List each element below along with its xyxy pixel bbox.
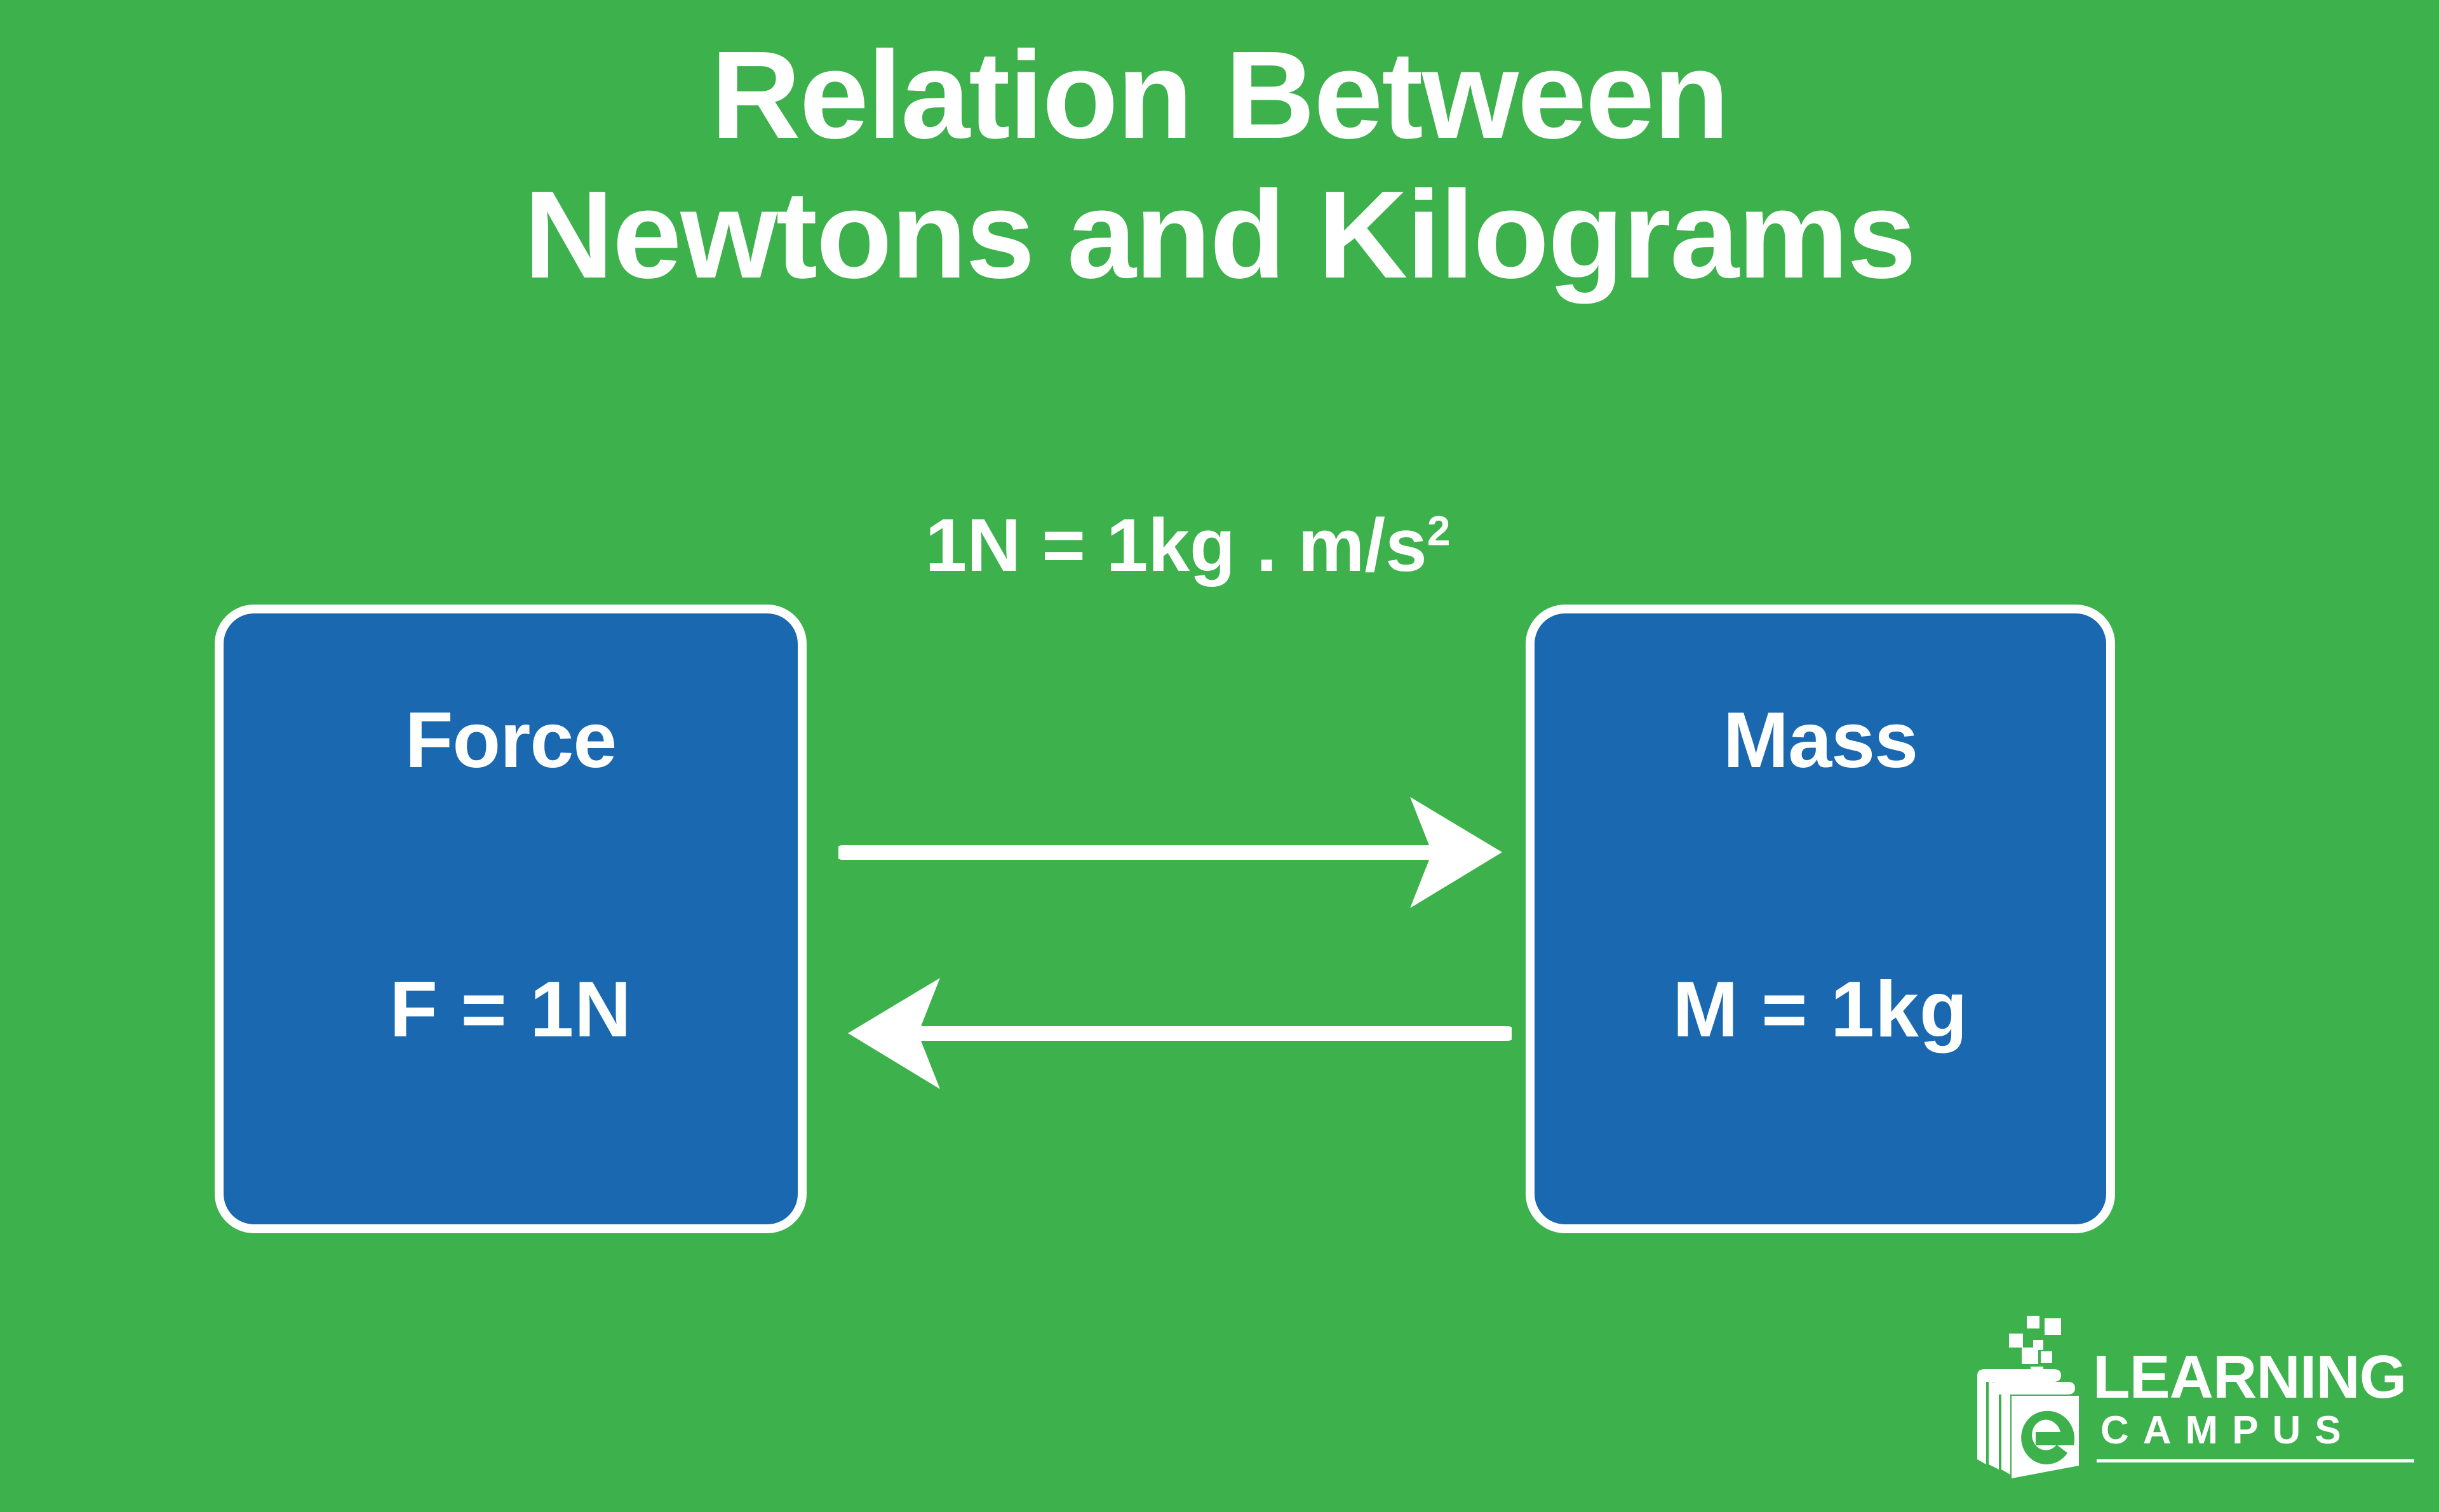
- logo-wordmark: LEARNING CAMPUS: [2093, 1348, 2417, 1450]
- title-line-1: Relation Between: [0, 25, 2439, 165]
- equation-base: 1N = 1kg . m/s: [925, 504, 1427, 587]
- brand-logo[interactable]: LEARNING CAMPUS: [1972, 1315, 2417, 1486]
- concept-box-mass-title: Mass: [1723, 701, 1918, 780]
- infographic-canvas: Relation Between Newtons and Kilograms 1…: [0, 0, 2439, 1512]
- arrow-left-icon: [845, 978, 1512, 1089]
- concept-box-force-value: F = 1N: [389, 970, 632, 1049]
- equation-exponent: 2: [1427, 508, 1451, 555]
- arrow-right-icon: [838, 797, 1505, 908]
- concept-box-force-title: Force: [405, 701, 617, 780]
- concept-box-mass[interactable]: Mass M = 1kg: [1526, 605, 2115, 1233]
- unit-equation: 1N = 1kg . m/s2: [781, 508, 1594, 583]
- logo-underline: [2097, 1459, 2414, 1462]
- concept-box-mass-value: M = 1kg: [1672, 970, 1968, 1049]
- logo-campus-text: CAMPUS: [2100, 1411, 2417, 1450]
- logo-learning-text: LEARNING: [2093, 1348, 2417, 1407]
- title-line-2: Newtons and Kilograms: [0, 165, 2439, 305]
- concept-box-force[interactable]: Force F = 1N: [215, 605, 807, 1233]
- book-e-icon: [1972, 1315, 2106, 1480]
- page-title: Relation Between Newtons and Kilograms: [0, 25, 2439, 304]
